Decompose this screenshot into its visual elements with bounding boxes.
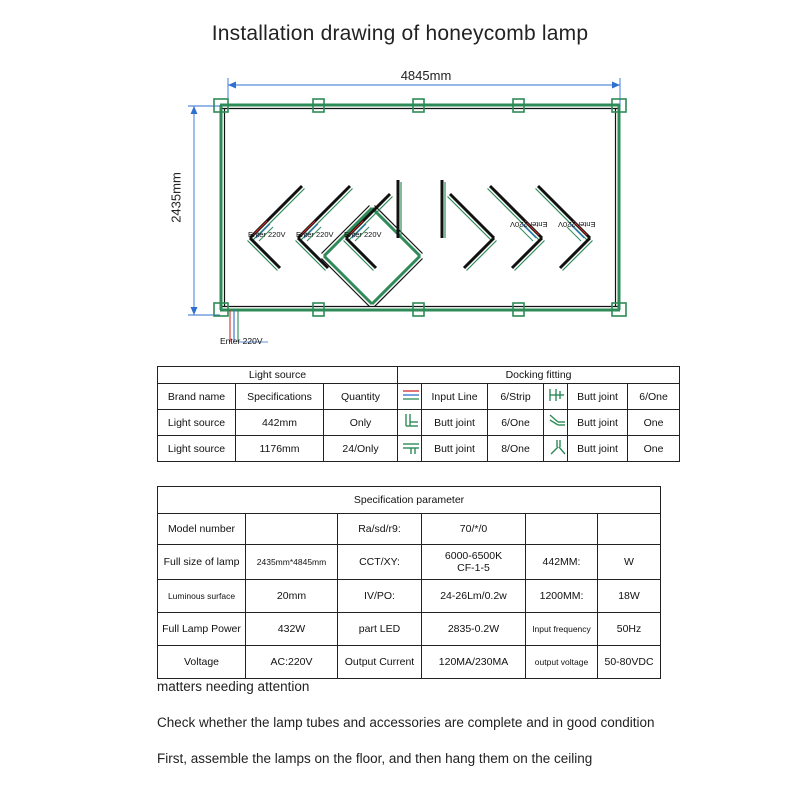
- cell-full-size-of-lamp: Full size of lamp: [158, 545, 246, 580]
- cell-1200mm-value: 18W: [598, 580, 661, 613]
- cell-iv-po-value: 24-26Lm/0.2w: [422, 580, 526, 613]
- header-docking-fitting: Docking fitting: [398, 367, 680, 384]
- cell-full-lamp-power-value: 432W: [246, 613, 338, 646]
- cell-input-line-label: Input Line: [422, 384, 488, 410]
- installation-drawing: .tb{stroke:#2e8b57;stroke-width:3;fill:n…: [150, 60, 650, 355]
- cell-luminous-surface: Luminous surface: [158, 580, 246, 613]
- outer-frame: [214, 99, 626, 316]
- table-row: Light source Docking fitting: [158, 367, 680, 384]
- table-row: Full size of lamp 2435mm*4845mm CCT/XY: …: [158, 545, 661, 580]
- cell-full-lamp-power: Full Lamp Power: [158, 613, 246, 646]
- butt-joint-tee-icon: [398, 436, 422, 462]
- cell-442mm-value: W: [598, 545, 661, 580]
- table-row: Brand name Specifications Quantity Input…: [158, 384, 680, 410]
- cell-spec-442mm: 442mm: [236, 410, 324, 436]
- notes-section: matters needing attention Check whether …: [157, 672, 677, 780]
- cell-ra-sd-r9: Ra/sd/r9:: [338, 514, 422, 545]
- cell-butt-joint-tee-qty: 8/One: [488, 436, 544, 462]
- cell-model-number: Model number: [158, 514, 246, 545]
- dimension-height-label: 2435mm: [169, 148, 184, 248]
- cell-luminous-surface-value: 20mm: [246, 580, 338, 613]
- table-row: Model number Ra/sd/r9: 70/*/0: [158, 514, 661, 545]
- cell-model-number-value: [246, 514, 338, 545]
- enter-220v-label-2: Enter 220V: [296, 230, 334, 239]
- cell-cct-xy-value: 6000-6500K CF-1-5: [422, 545, 526, 580]
- cell-butt-joint-tri-label: Butt joint: [568, 436, 628, 462]
- honeycomb-tubes: [248, 180, 593, 307]
- butt-joint-y-icon: [544, 410, 568, 436]
- butt-joint-cross-icon: [544, 384, 568, 410]
- cell-light-source-1: Light source: [158, 410, 236, 436]
- cell-qty-24only: 24/Only: [324, 436, 398, 462]
- specification-parameter-table: Specification parameter Model number Ra/…: [157, 486, 661, 679]
- cell-spec-1176mm: 1176mm: [236, 436, 324, 462]
- cell-butt-joint-corner-qty: 6/One: [488, 410, 544, 436]
- enter-220v-label-5: Enter 220V: [558, 220, 596, 229]
- light-source-table: Light source Docking fitting Brand name …: [157, 366, 680, 462]
- header-light-source: Light source: [158, 367, 398, 384]
- header-specification-parameter: Specification parameter: [158, 487, 661, 514]
- cell-butt-joint-tee-label: Butt joint: [422, 436, 488, 462]
- cell-quantity: Quantity: [324, 384, 398, 410]
- enter-220v-label-1: Enter 220V: [248, 230, 286, 239]
- cell-part-led: part LED: [338, 613, 422, 646]
- cell-light-source-2: Light source: [158, 436, 236, 462]
- note-check-tubes: Check whether the lamp tubes and accesso…: [157, 708, 677, 737]
- cell-input-line-qty: 6/Strip: [488, 384, 544, 410]
- dimension-height: [188, 106, 220, 315]
- table-row: Light source 1176mm 24/Only Butt joint 8…: [158, 436, 680, 462]
- enter-220v-label-main: Enter 220V: [220, 336, 263, 346]
- table-row: Specification parameter: [158, 487, 661, 514]
- note-assemble: First, assemble the lamps on the floor, …: [157, 744, 677, 773]
- butt-joint-tri-icon: [544, 436, 568, 462]
- dimension-width-label: 4845mm: [346, 68, 506, 83]
- cell-part-led-value: 2835-0.2W: [422, 613, 526, 646]
- table-row: Luminous surface 20mm IV/PO: 24-26Lm/0.2…: [158, 580, 661, 613]
- cell-input-frequency: Input frequency: [526, 613, 598, 646]
- butt-joint-corner-icon: [398, 410, 422, 436]
- cell-butt-joint-cross-label: Butt joint: [568, 384, 628, 410]
- table-row: Light source 442mm Only Butt joint 6/One: [158, 410, 680, 436]
- cell-qty-only: Only: [324, 410, 398, 436]
- cell-butt-joint-tri-qty: One: [628, 436, 680, 462]
- cell-butt-joint-cross-qty: 6/One: [628, 384, 680, 410]
- enter-220v-label-4: Enter 220V: [510, 220, 548, 229]
- cell-row0-f: [598, 514, 661, 545]
- input-line-icon: [398, 384, 422, 410]
- page-root: Installation drawing of honeycomb lamp .…: [0, 0, 800, 800]
- cell-butt-joint-y-qty: One: [628, 410, 680, 436]
- cell-1200mm: 1200MM:: [526, 580, 598, 613]
- cell-row0-e: [526, 514, 598, 545]
- cell-brand-name: Brand name: [158, 384, 236, 410]
- table-row: Full Lamp Power 432W part LED 2835-0.2W …: [158, 613, 661, 646]
- cell-butt-joint-corner-label: Butt joint: [422, 410, 488, 436]
- cell-specifications: Specifications: [236, 384, 324, 410]
- page-title: Installation drawing of honeycomb lamp: [0, 22, 800, 46]
- cell-iv-po: IV/PO:: [338, 580, 422, 613]
- cell-ra-sd-r9-value: 70/*/0: [422, 514, 526, 545]
- cell-full-size-value: 2435mm*4845mm: [246, 545, 338, 580]
- cell-cct-xy: CCT/XY:: [338, 545, 422, 580]
- note-attention: matters needing attention: [157, 672, 677, 701]
- cell-input-frequency-value: 50Hz: [598, 613, 661, 646]
- cell-442mm: 442MM:: [526, 545, 598, 580]
- cell-butt-joint-y-label: Butt joint: [568, 410, 628, 436]
- enter-220v-label-3: Enter 220V: [344, 230, 382, 239]
